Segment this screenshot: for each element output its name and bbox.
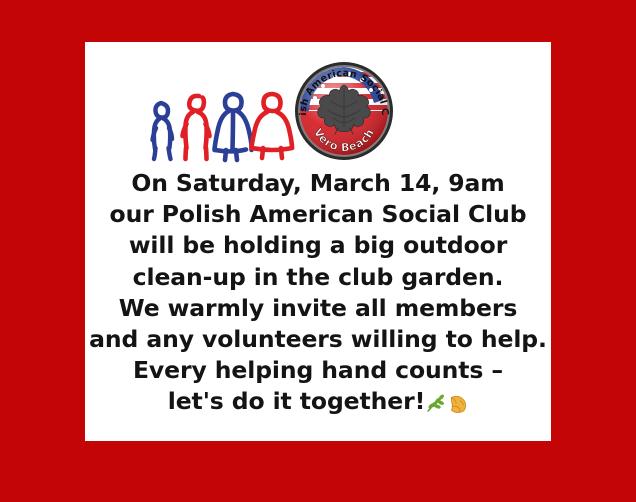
flexed-biceps-emoji bbox=[447, 390, 468, 414]
polish-american-social-club-logo: Polish American Social Club Vero Beach bbox=[289, 56, 399, 166]
herb-leaf-emoji bbox=[425, 390, 447, 414]
message-line-7: Every helping hand counts – bbox=[85, 355, 551, 386]
message-line-4: clean-up in the club garden. bbox=[85, 262, 551, 293]
announcement-card: Polish American Social Club Vero Beach O… bbox=[85, 42, 551, 441]
message-line-1: On Saturday, March 14, 9am bbox=[85, 168, 551, 199]
message-line-8-text: let's do it together! bbox=[168, 387, 425, 415]
message-line-6: and any volunteers willing to help. bbox=[85, 324, 551, 355]
announcement-message: On Saturday, March 14, 9am our Polish Am… bbox=[85, 168, 551, 419]
person-figure-2 bbox=[183, 96, 210, 159]
message-line-5: We warmly invite all members bbox=[85, 293, 551, 324]
poster-background: Polish American Social Club Vero Beach O… bbox=[0, 0, 636, 502]
message-line-3: will be holding a big outdoor bbox=[85, 230, 551, 261]
message-line-8: let's do it together! bbox=[85, 386, 551, 418]
person-figure-4 bbox=[252, 94, 293, 158]
four-people-group-icon bbox=[147, 86, 307, 164]
card-header-row: Polish American Social Club Vero Beach bbox=[85, 48, 551, 170]
person-figure-3 bbox=[215, 94, 252, 160]
message-line-2: our Polish American Social Club bbox=[85, 199, 551, 230]
person-figure-1 bbox=[153, 103, 173, 159]
